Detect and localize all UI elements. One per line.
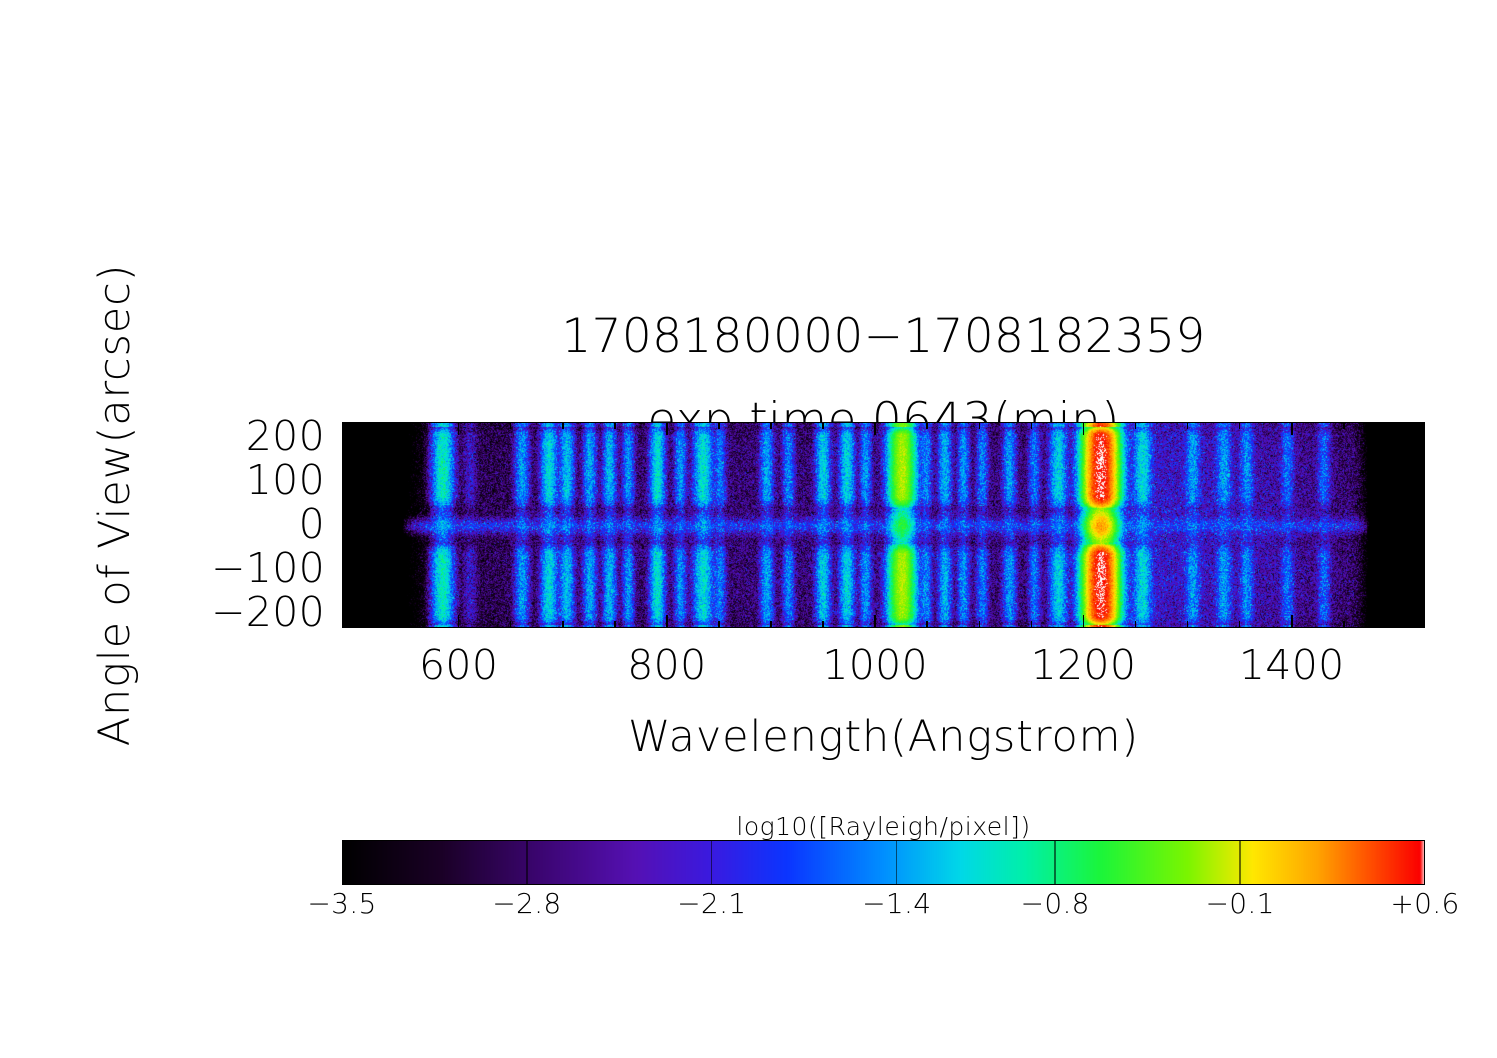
axis-tick [342,480,355,482]
axis-tick [1083,615,1085,628]
colorbar-tick-label: −2.1 [642,890,782,918]
axis-tick [1418,594,1425,596]
axis-tick [1031,422,1033,429]
axis-tick [1418,507,1425,509]
axis-tick [1395,422,1397,429]
colorbar [342,840,1425,885]
x-tick-label: 600 [379,645,539,686]
x-tick-label: 1400 [1212,645,1372,686]
axis-tick [614,621,616,628]
axis-tick [1031,621,1033,628]
axis-tick [342,586,349,588]
axis-tick [342,603,349,605]
axis-tick [342,445,349,447]
axis-tick [874,615,876,628]
colorbar-tick-label: −0.8 [985,890,1125,918]
axis-tick [614,422,616,429]
axis-tick [1418,445,1425,447]
axis-tick [342,524,355,526]
axis-tick [406,422,408,429]
axis-tick [1418,559,1425,561]
axis-tick [1291,615,1293,628]
y-axis-tick-labels: 2001000−100−200 [150,422,325,628]
axis-tick [1412,568,1425,570]
axis-tick [458,422,460,435]
axis-tick [1418,577,1425,579]
axis-tick [1291,422,1293,435]
spectrogram-figure: 1708180000−1708182359 exp time 0643(min)… [0,0,1497,1058]
axis-tick [770,621,772,628]
axis-tick [342,594,349,596]
axis-tick [1418,472,1425,474]
axis-tick [1083,422,1085,435]
axis-tick [562,621,564,628]
axis-tick [342,621,349,623]
colorbar-title: log10([Rayleigh/pixel]) [342,812,1425,841]
axis-tick [342,542,349,544]
axis-tick [342,489,349,491]
axis-tick [458,615,460,628]
axis-tick [1395,621,1397,628]
axis-tick [1343,621,1345,628]
axis-tick [1187,422,1189,429]
axis-tick [1412,524,1425,526]
axis-tick [1418,533,1425,535]
axis-tick [1418,621,1425,623]
axis-tick [979,422,981,429]
axis-tick [1135,422,1137,429]
x-tick-label: 1200 [1003,645,1163,686]
colorbar-tick-label: +0.6 [1355,890,1495,918]
axis-tick [342,612,355,614]
axis-tick [1418,586,1425,588]
axis-tick [926,621,928,628]
colorbar-tick-label: −1.4 [827,890,967,918]
y-tick-label: 200 [150,416,325,457]
axis-tick [1239,621,1241,628]
colorbar-tick-label: −3.5 [272,890,412,918]
y-tick-label: −200 [150,592,325,633]
axis-tick [562,422,564,429]
axis-tick [1418,498,1425,500]
axis-tick [666,422,668,435]
colorbar-tick-label: −0.1 [1170,890,1310,918]
axis-tick [1343,422,1345,429]
axis-tick [342,559,349,561]
colorbar-tick-label: −2.8 [457,890,597,918]
x-axis-title: Wavelength(Angstrom) [342,712,1425,762]
axis-tick [342,463,349,465]
x-axis-tick-labels: 600800100012001400 [342,645,1425,697]
x-tick-label: 800 [587,645,747,686]
axis-tick [1418,463,1425,465]
axis-tick [1412,480,1425,482]
axis-tick [1418,454,1425,456]
axis-tick [718,621,720,628]
axis-tick [510,621,512,628]
y-tick-label: −100 [150,548,325,589]
axis-tick [406,621,408,628]
axis-tick [822,422,824,429]
axis-tick [342,472,349,474]
axis-tick [718,422,720,429]
axis-tick [342,428,349,430]
axis-tick [822,621,824,628]
axis-tick [1135,621,1137,628]
y-tick-label: 100 [150,460,325,501]
axis-tick [342,515,349,517]
axis-tick [342,550,349,552]
x-tick-label: 1000 [795,645,955,686]
axis-tick [354,621,356,628]
y-axis-title: Angle of View(arcsec) [90,245,140,765]
axis-tick [1418,515,1425,517]
title-line-observation-id: 1708180000−1708182359 [342,312,1425,362]
axis-tick [666,615,668,628]
colorbar-gradient [343,841,1425,885]
axis-tick [1239,422,1241,429]
y-tick-label: 0 [150,504,325,545]
colorbar-tick-labels: −3.5−2.8−2.1−1.4−0.8−0.1+0.6 [342,890,1425,935]
axis-tick [1418,603,1425,605]
axis-tick [342,498,349,500]
axis-tick [770,422,772,429]
axis-tick [354,422,356,429]
axis-tick [1187,621,1189,628]
axis-tick [342,577,349,579]
axis-tick [1418,489,1425,491]
axis-tick [1412,612,1425,614]
axis-tick [874,422,876,435]
spectrogram-plot-area [342,422,1425,628]
axis-tick [1412,437,1425,439]
axis-tick [342,533,349,535]
axis-tick [342,437,355,439]
axis-tick [342,568,355,570]
axis-tick [342,454,349,456]
axis-tick [979,621,981,628]
axis-tick [1418,428,1425,430]
axis-tick [510,422,512,429]
spectrogram-image [343,423,1425,628]
axis-tick [1418,542,1425,544]
axis-tick [1418,550,1425,552]
axis-tick [342,507,349,509]
axis-tick [926,422,928,429]
